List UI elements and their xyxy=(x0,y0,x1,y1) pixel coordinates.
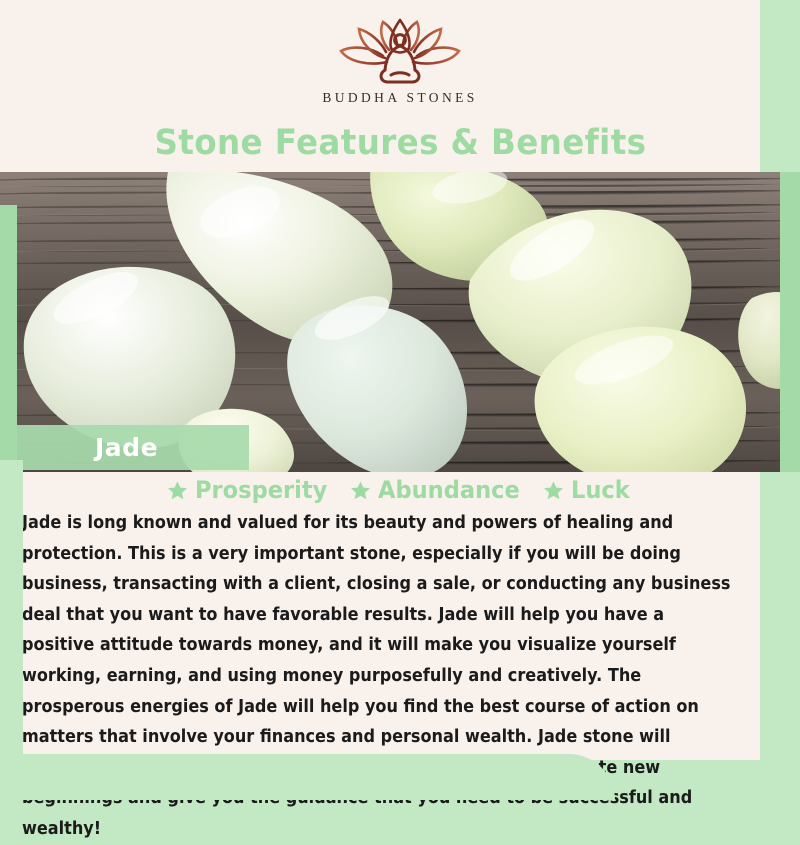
benefit-label: Prosperity xyxy=(195,476,327,504)
decoration-bottom-band xyxy=(0,754,615,800)
benefit-label: Abundance xyxy=(378,476,520,504)
benefit-item: Luck xyxy=(543,476,634,504)
benefits-row: Prosperity Abundance Luck xyxy=(0,476,800,504)
title-banner: Stone Features & Benefits xyxy=(0,123,800,163)
stone-name-tag: Jade xyxy=(17,425,249,470)
brand-name: BUDDHA STONES xyxy=(322,90,477,106)
benefit-item: Abundance xyxy=(350,476,529,504)
decoration-left-band xyxy=(0,460,23,756)
decoration-strip-right xyxy=(780,172,800,472)
decoration-strip-left xyxy=(0,205,17,463)
brand-logo: BUDDHA STONES xyxy=(322,18,477,106)
benefit-item: Prosperity xyxy=(167,476,336,504)
stone-name-label: Jade xyxy=(95,433,158,462)
page-title: Stone Features & Benefits xyxy=(154,123,646,163)
benefit-label: Luck xyxy=(571,476,630,504)
star-icon xyxy=(543,480,564,501)
star-icon xyxy=(350,480,371,501)
lotus-meditation-icon xyxy=(325,18,475,86)
star-icon xyxy=(167,480,188,501)
